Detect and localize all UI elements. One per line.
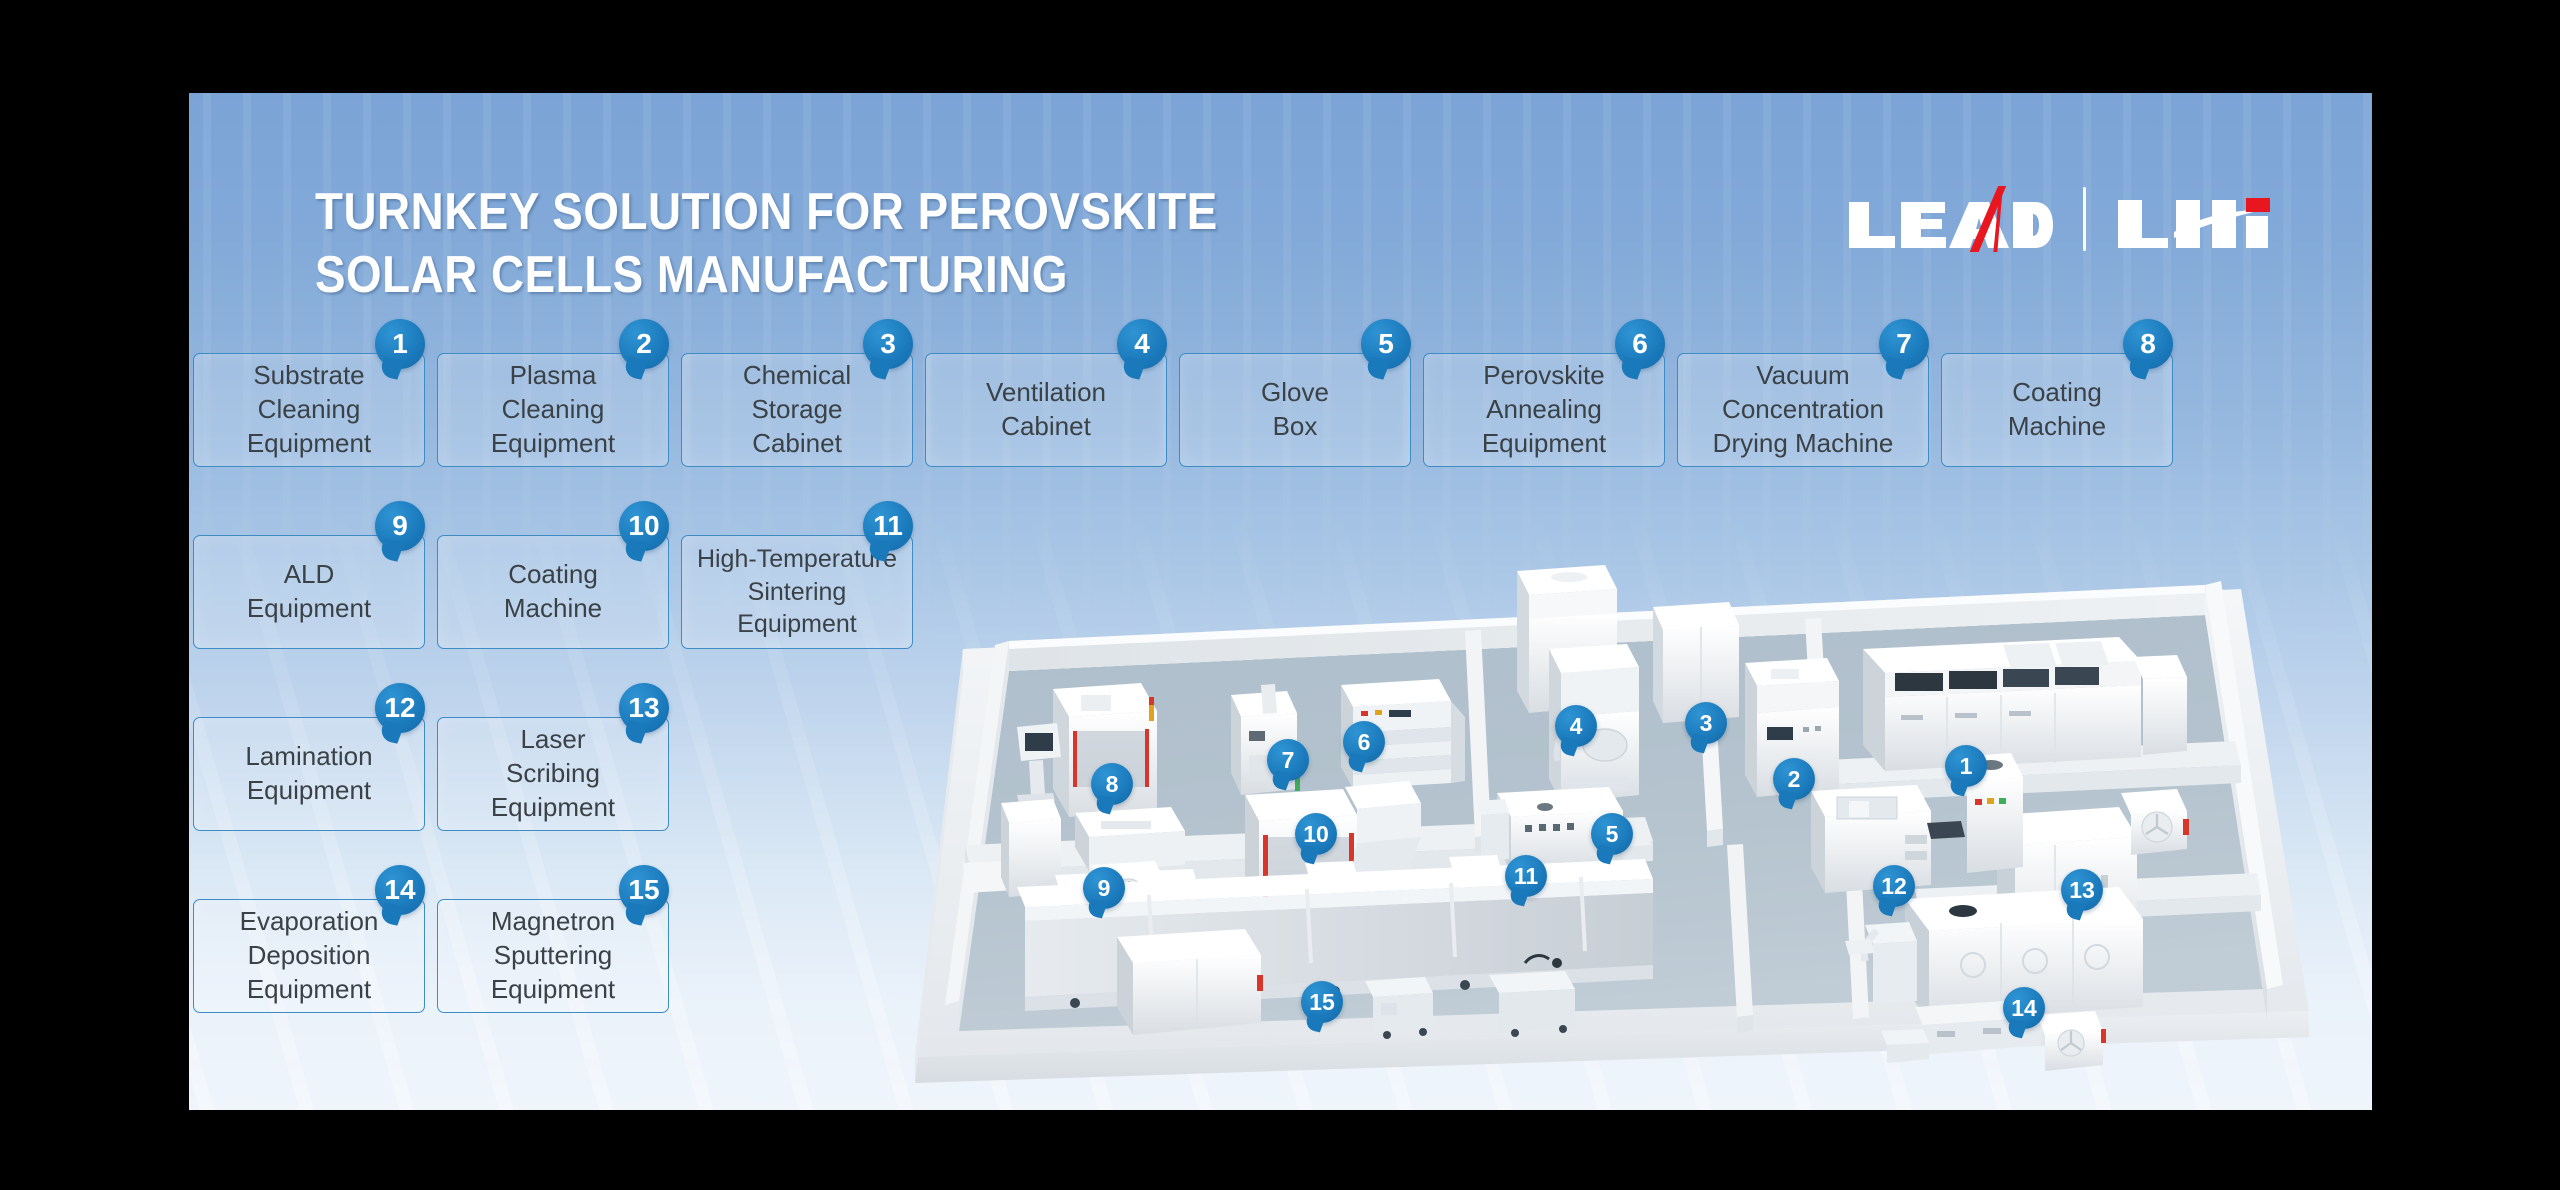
equipment-label-15: Magnetron Sputtering Equipment	[483, 905, 623, 1006]
floor-marker-9[interactable]: 9	[1083, 867, 1125, 909]
equipment-badge-14[interactable]: 14	[375, 865, 425, 915]
floor-marker-15[interactable]: 15	[1301, 981, 1343, 1023]
logo-divider	[2083, 187, 2086, 251]
floor-marker-8[interactable]: 8	[1091, 763, 1133, 805]
equipment-badge-9[interactable]: 9	[375, 501, 425, 551]
equipment-badge-11[interactable]: 11	[863, 501, 913, 551]
equipment-badge-4[interactable]: 4	[1117, 319, 1167, 369]
equipment-badge-6[interactable]: 6	[1615, 319, 1665, 369]
equipment-label-6: Perovskite Annealing Equipment	[1474, 359, 1614, 460]
equipment-badge-15[interactable]: 15	[619, 865, 669, 915]
equipment-label-13: Laser Scribing Equipment	[483, 723, 623, 824]
company-logo	[1847, 183, 2276, 255]
equipment-badge-2[interactable]: 2	[619, 319, 669, 369]
floor-marker-1[interactable]: 1	[1945, 745, 1987, 787]
page-title: TURNKEY SOLUTION FOR PEROVSKITE SOLAR CE…	[315, 181, 1283, 308]
lead-wordmark-icon	[1847, 186, 2053, 252]
factory-floorplan-3d: 1 2 3 4 5 6 7 8 9 10 11 12 13 14 15	[905, 545, 2315, 1075]
equipment-badge-8[interactable]: 8	[2123, 319, 2173, 369]
floor-marker-3[interactable]: 3	[1685, 702, 1727, 744]
screenshot-canvas: TURNKEY SOLUTION FOR PEROVSKITE SOLAR CE…	[0, 0, 2560, 1190]
floor-marker-4[interactable]: 4	[1555, 705, 1597, 747]
equipment-label-14: Evaporation Deposition Equipment	[232, 905, 387, 1006]
presentation-slide: TURNKEY SOLUTION FOR PEROVSKITE SOLAR CE…	[189, 93, 2372, 1110]
floor-marker-12[interactable]: 12	[1873, 865, 1915, 907]
equipment-badge-5[interactable]: 5	[1361, 319, 1411, 369]
equipment-label-3: Chemical Storage Cabinet	[735, 359, 859, 460]
equipment-badge-7[interactable]: 7	[1879, 319, 1929, 369]
equipment-badge-10[interactable]: 10	[619, 501, 669, 551]
equipment-badge-13[interactable]: 13	[619, 683, 669, 733]
equipment-badge-1[interactable]: 1	[375, 319, 425, 369]
floor-marker-11[interactable]: 11	[1505, 855, 1547, 897]
equipment-label-5: Glove Box	[1253, 376, 1337, 444]
equipment-label-12: Lamination Equipment	[237, 740, 380, 808]
floor-marker-7[interactable]: 7	[1267, 739, 1309, 781]
equipment-label-11: High-Temperature Sintering Equipment	[689, 543, 905, 641]
equipment-label-4: Ventilation Cabinet	[978, 376, 1114, 444]
floor-marker-14[interactable]: 14	[2003, 987, 2045, 1029]
equipment-label-10: Coating Machine	[496, 558, 610, 626]
floor-marker-10[interactable]: 10	[1295, 813, 1337, 855]
floor-marker-5[interactable]: 5	[1591, 813, 1633, 855]
floor-marker-6[interactable]: 6	[1343, 721, 1385, 763]
floor-marker-13[interactable]: 13	[2061, 869, 2103, 911]
equipment-badge-3[interactable]: 3	[863, 319, 913, 369]
equipment-badge-12[interactable]: 12	[375, 683, 425, 733]
lhi-wordmark-icon	[2116, 186, 2276, 252]
equipment-label-8: Coating Machine	[2000, 376, 2114, 444]
floor-marker-2[interactable]: 2	[1773, 758, 1815, 800]
equipment-label-9: ALD Equipment	[239, 558, 379, 626]
equipment-label-1: Substrate Cleaning Equipment	[239, 359, 379, 460]
equipment-label-2: Plasma Cleaning Equipment	[483, 359, 623, 460]
equipment-label-7: Vacuum Concentration Drying Machine	[1705, 359, 1902, 460]
